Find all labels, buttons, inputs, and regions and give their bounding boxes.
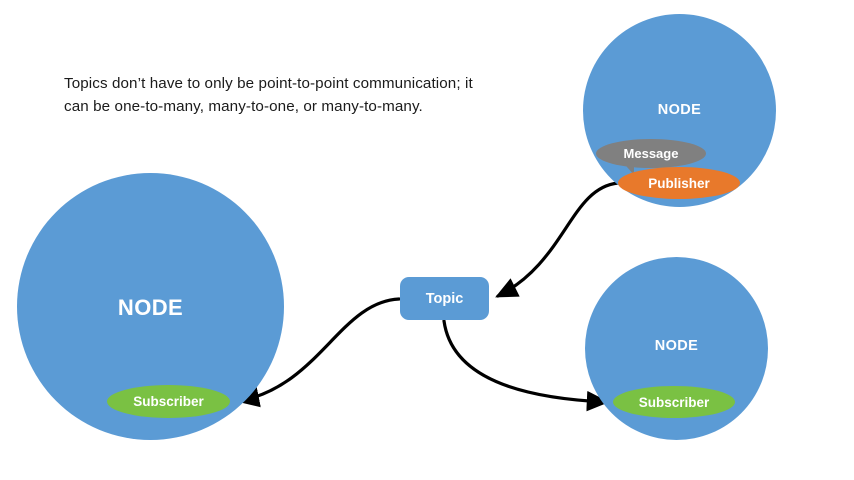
node-label-subscriber: NODE — [585, 338, 768, 354]
publisher-pill[interactable]: Publisher — [618, 167, 740, 199]
message-label: Message — [596, 139, 706, 168]
node-label-publisher: NODE — [583, 102, 776, 118]
subscriber-pill-left[interactable]: Subscriber — [107, 385, 230, 418]
topic-box[interactable]: Topic — [400, 277, 489, 320]
subscriber-pill-right[interactable]: Subscriber — [613, 386, 735, 418]
caption-text: Topics don’t have to only be point-to-po… — [64, 73, 484, 119]
edge-publisher-to-topic — [498, 183, 618, 296]
diagram-canvas: Topics don’t have to only be point-to-po… — [0, 0, 854, 480]
node-label-left: NODE — [17, 295, 284, 321]
message-callout[interactable]: Message — [596, 139, 706, 168]
edge-topic-to-subscriber-right — [444, 321, 606, 402]
